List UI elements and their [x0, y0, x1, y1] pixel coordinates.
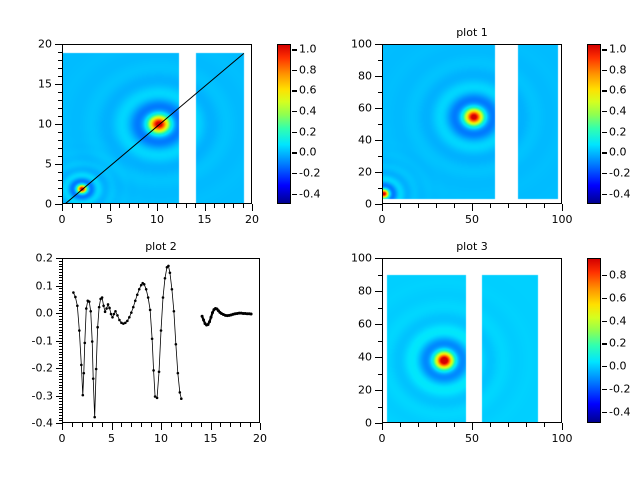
- axis-tick: [378, 156, 382, 157]
- axis-tick-label: 0.2: [36, 252, 54, 265]
- axis-tick: [56, 341, 62, 342]
- axis-tick: [602, 132, 607, 133]
- axis-tick-label: 100: [351, 252, 372, 265]
- axis-tick: [59, 332, 62, 333]
- axis-tick: [157, 204, 158, 211]
- figure-canvas: 05101520051015201.00.80.60.40.20.0-0.2-0…: [0, 0, 640, 480]
- plot-area-bottom-left: [62, 258, 260, 423]
- data-point-marker: [88, 300, 91, 303]
- colorbar-tick-label: 0.8: [609, 63, 627, 76]
- axis-tick: [59, 264, 62, 265]
- axis-tick: [58, 60, 62, 61]
- axis-tick-label: 0.0: [36, 307, 54, 320]
- axis-tick: [454, 423, 455, 427]
- data-point-marker: [114, 310, 117, 313]
- axis-tick-label: 0.1: [36, 279, 54, 292]
- axis-tick: [602, 298, 607, 299]
- axis-tick: [59, 371, 62, 372]
- axis-tick-label: 40: [358, 134, 372, 147]
- colorbar-tick-label: 0.2: [609, 125, 627, 138]
- data-point-marker: [92, 377, 95, 380]
- colorbar-tick-label: -0.4: [299, 187, 320, 200]
- data-point-marker: [126, 320, 129, 323]
- axis-tick-label: 10: [38, 118, 52, 131]
- data-point-marker: [136, 293, 139, 296]
- data-point-marker: [202, 319, 205, 322]
- axis-tick: [55, 124, 62, 125]
- axis-tick: [375, 140, 382, 141]
- axis-tick: [59, 346, 62, 347]
- axis-tick: [59, 299, 62, 300]
- axis-tick: [131, 423, 132, 427]
- data-point-marker: [134, 300, 137, 303]
- data-point-marker: [101, 296, 104, 299]
- axis-tick: [375, 291, 382, 292]
- axis-tick: [508, 204, 509, 208]
- data-point-marker: [138, 288, 141, 291]
- data-point-marker: [143, 283, 146, 286]
- data-point-marker: [107, 303, 110, 306]
- data-point-marker: [110, 313, 113, 316]
- colorbar-tick-label: -0.2: [609, 167, 630, 180]
- axis-tick: [59, 387, 62, 388]
- axis-tick: [59, 291, 62, 292]
- data-point-marker: [132, 306, 135, 309]
- axis-tick: [129, 204, 130, 208]
- colorbar-top-left: [277, 44, 291, 204]
- axis-tick: [59, 324, 62, 325]
- subplot-top-left: 05101520051015201.00.80.60.40.20.0-0.2-0…: [0, 0, 320, 240]
- axis-tick: [602, 389, 607, 390]
- axis-tick: [292, 132, 297, 133]
- axis-tick: [224, 204, 225, 208]
- colorbar-tick-label: 0.6: [299, 84, 317, 97]
- axis-tick: [382, 204, 383, 211]
- axis-tick: [59, 305, 62, 306]
- axis-tick: [418, 423, 419, 427]
- axis-tick: [72, 423, 73, 427]
- axis-tick-label: 10: [150, 213, 164, 226]
- axis-tick: [375, 390, 382, 391]
- axis-tick: [58, 100, 62, 101]
- data-point-marker: [160, 329, 163, 332]
- axis-tick: [602, 173, 607, 174]
- axis-tick-label: 5: [108, 432, 115, 445]
- axis-tick: [121, 423, 122, 427]
- data-point-marker: [158, 370, 161, 373]
- axis-tick: [59, 352, 62, 353]
- axis-tick: [378, 92, 382, 93]
- axis-tick: [59, 385, 62, 386]
- axis-tick-label: 50: [465, 213, 479, 226]
- data-point-marker: [85, 307, 88, 310]
- axis-tick: [562, 204, 563, 211]
- axis-tick: [59, 327, 62, 328]
- axis-tick: [58, 68, 62, 69]
- data-point-marker: [145, 288, 148, 291]
- axis-tick: [59, 418, 62, 419]
- axis-tick: [602, 275, 607, 276]
- axis-tick: [58, 156, 62, 157]
- axis-tick: [59, 269, 62, 270]
- colorbar-tick-label: 0.8: [299, 63, 317, 76]
- line-series-group: [63, 259, 260, 423]
- data-point-marker: [108, 307, 111, 310]
- colorbar-tick-label: 0.2: [609, 337, 627, 350]
- axis-tick: [59, 379, 62, 380]
- axis-tick: [220, 423, 221, 427]
- axis-tick: [378, 124, 382, 125]
- axis-tick: [230, 423, 231, 427]
- axis-tick: [292, 152, 297, 153]
- axis-tick: [59, 376, 62, 377]
- data-point-marker: [76, 304, 79, 307]
- data-point-marker: [124, 322, 127, 325]
- axis-tick: [436, 204, 437, 208]
- axis-tick: [378, 275, 382, 276]
- axis-tick: [250, 423, 251, 427]
- data-point-marker: [210, 316, 213, 319]
- axis-tick: [171, 423, 172, 427]
- axis-tick: [56, 423, 62, 424]
- data-point-marker: [211, 311, 214, 314]
- axis-tick: [59, 261, 62, 262]
- plot-area-top-left: [62, 44, 252, 204]
- axis-tick: [375, 423, 382, 424]
- axis-tick-label: 5: [106, 213, 113, 226]
- axis-tick: [378, 374, 382, 375]
- axis-tick-label: 80: [358, 285, 372, 298]
- axis-tick: [400, 423, 401, 427]
- axis-tick: [59, 349, 62, 350]
- axis-tick: [243, 204, 244, 208]
- axis-tick-label: 0: [379, 213, 386, 226]
- axis-tick: [167, 204, 168, 208]
- colorbar-tick-label: 1.0: [609, 43, 627, 56]
- axis-tick: [92, 423, 93, 427]
- axis-tick: [59, 319, 62, 320]
- axis-tick: [82, 423, 83, 427]
- axis-tick: [602, 412, 607, 413]
- axis-tick: [59, 280, 62, 281]
- axis-tick: [56, 286, 62, 287]
- axis-tick: [102, 423, 103, 427]
- axis-tick: [59, 266, 62, 267]
- axis-tick: [59, 398, 62, 399]
- axis-tick: [526, 423, 527, 427]
- axis-tick: [375, 108, 382, 109]
- colorbar-bottom-right: [587, 258, 601, 423]
- colorbar-tick-label: 0.4: [609, 314, 627, 327]
- data-point-marker: [130, 311, 133, 314]
- data-point-marker: [96, 326, 99, 329]
- axis-tick: [292, 49, 297, 50]
- axis-tick-label: 100: [552, 432, 573, 445]
- line-path-segment-1: [73, 266, 181, 417]
- data-point-marker: [152, 369, 155, 372]
- axis-tick-label: -0.4: [32, 417, 53, 430]
- axis-tick: [138, 204, 139, 208]
- data-point-marker: [82, 394, 85, 397]
- data-point-marker: [128, 316, 131, 319]
- axis-tick: [186, 204, 187, 208]
- axis-tick: [59, 420, 62, 421]
- axis-tick: [151, 423, 152, 427]
- colorbar-tick-label: 0.4: [299, 105, 317, 118]
- axis-tick: [454, 204, 455, 208]
- plot-area-bottom-right: [382, 258, 562, 423]
- data-point-marker: [74, 296, 77, 299]
- data-point-marker: [91, 340, 94, 343]
- axis-tick: [58, 52, 62, 53]
- axis-tick: [59, 294, 62, 295]
- axis-tick: [602, 70, 607, 71]
- heatmap-image-top-right: [383, 45, 562, 204]
- axis-tick: [59, 302, 62, 303]
- axis-tick-label: -0.3: [32, 389, 53, 402]
- axis-tick: [56, 258, 62, 259]
- axis-tick: [375, 44, 382, 45]
- axis-tick: [382, 423, 383, 430]
- colorbar-top-right: [587, 44, 601, 204]
- axis-tick: [59, 409, 62, 410]
- axis-tick-label: 20: [358, 384, 372, 397]
- data-point-marker: [82, 372, 85, 375]
- data-point-marker: [171, 288, 174, 291]
- axis-tick: [58, 108, 62, 109]
- colorbar-tick-label: 0.8: [609, 269, 627, 282]
- axis-tick-label: 60: [358, 318, 372, 331]
- axis-tick: [375, 357, 382, 358]
- data-point-marker: [177, 372, 180, 375]
- axis-tick: [195, 204, 196, 208]
- axis-tick: [56, 396, 62, 397]
- axis-tick-label: 20: [245, 213, 259, 226]
- axis-tick: [59, 407, 62, 408]
- data-point-marker: [151, 337, 154, 340]
- data-point-marker: [156, 397, 159, 400]
- axis-tick: [214, 204, 215, 208]
- axis-tick-label: 5: [45, 158, 52, 171]
- axis-tick: [59, 338, 62, 339]
- axis-tick: [59, 374, 62, 375]
- axis-tick: [56, 368, 62, 369]
- axis-tick: [62, 423, 63, 430]
- axis-tick-label: 15: [198, 213, 212, 226]
- axis-tick: [72, 204, 73, 208]
- colorbar-gradient: [588, 259, 600, 422]
- axis-tick: [119, 204, 120, 208]
- axis-tick: [59, 412, 62, 413]
- axis-tick: [59, 288, 62, 289]
- axis-tick: [191, 423, 192, 427]
- data-point-marker: [118, 319, 121, 322]
- axis-tick: [59, 404, 62, 405]
- axis-tick: [59, 316, 62, 317]
- plot-area-top-right: [382, 44, 562, 204]
- axis-tick: [148, 204, 149, 208]
- data-point-marker: [250, 313, 253, 316]
- axis-tick: [59, 415, 62, 416]
- axis-tick: [58, 172, 62, 173]
- axis-tick: [375, 204, 382, 205]
- axis-tick: [59, 393, 62, 394]
- axis-tick: [602, 343, 607, 344]
- data-point-marker: [149, 309, 152, 312]
- axis-tick-label: 20: [38, 38, 52, 51]
- axis-tick: [418, 204, 419, 208]
- axis-tick: [58, 196, 62, 197]
- axis-tick: [59, 357, 62, 358]
- axis-tick: [233, 204, 234, 208]
- axis-tick-label: 60: [358, 102, 372, 115]
- axis-tick-label: 100: [351, 38, 372, 51]
- data-point-marker: [104, 311, 107, 314]
- colorbar-tick-label: 1.0: [299, 43, 317, 56]
- data-point-marker: [207, 323, 210, 326]
- axis-tick: [91, 204, 92, 208]
- data-point-marker: [169, 271, 172, 274]
- axis-tick: [292, 70, 297, 71]
- axis-tick: [59, 277, 62, 278]
- axis-tick: [292, 173, 297, 174]
- data-point-marker: [116, 314, 119, 317]
- axis-tick-label: 0: [379, 432, 386, 445]
- axis-tick-label: 15: [204, 432, 218, 445]
- axis-tick-label: 0: [59, 213, 66, 226]
- axis-tick-label: -0.2: [32, 362, 53, 375]
- axis-tick: [508, 423, 509, 427]
- axis-tick: [58, 76, 62, 77]
- axis-tick: [375, 76, 382, 77]
- axis-tick: [544, 204, 545, 208]
- axis-tick: [100, 204, 101, 208]
- axis-tick: [58, 180, 62, 181]
- axis-tick: [55, 44, 62, 45]
- axis-tick: [201, 423, 202, 427]
- axis-tick: [59, 308, 62, 309]
- axis-tick-label: 50: [465, 432, 479, 445]
- axis-tick: [58, 188, 62, 189]
- axis-tick: [490, 423, 491, 427]
- axis-tick: [375, 172, 382, 173]
- axis-tick: [58, 140, 62, 141]
- colorbar-tick-label: 0.2: [299, 125, 317, 138]
- axis-tick: [602, 49, 607, 50]
- colorbar-tick-label: 0.4: [609, 105, 627, 118]
- axis-tick: [292, 90, 297, 91]
- data-point-marker: [179, 391, 182, 394]
- data-point-marker: [105, 307, 108, 310]
- axis-tick: [141, 423, 142, 427]
- colorbar-tick-label: -0.4: [609, 187, 630, 200]
- colorbar-tick-label: 0.0: [299, 146, 317, 159]
- axis-tick: [59, 275, 62, 276]
- axis-tick: [211, 423, 212, 430]
- axis-tick-label: 20: [253, 432, 267, 445]
- axis-tick: [59, 365, 62, 366]
- colorbar-tick-label: 0.0: [609, 360, 627, 373]
- data-point-marker: [78, 329, 81, 332]
- data-point-marker: [180, 397, 183, 400]
- axis-tick: [472, 204, 473, 211]
- axis-tick-label: 20: [358, 166, 372, 179]
- colorbar-tick-label: 0.6: [609, 291, 627, 304]
- colorbar-tick-label: 0.0: [609, 146, 627, 159]
- axis-tick: [59, 283, 62, 284]
- axis-tick: [176, 204, 177, 208]
- axis-tick-label: 0: [365, 417, 372, 430]
- axis-tick: [378, 188, 382, 189]
- axis-tick-label: 10: [154, 432, 168, 445]
- axis-tick: [161, 423, 162, 430]
- axis-tick: [472, 423, 473, 430]
- data-point-marker: [89, 310, 92, 313]
- axis-tick: [58, 92, 62, 93]
- axis-tick: [112, 423, 113, 430]
- axis-tick: [602, 111, 607, 112]
- subplot-bottom-right: plot 3 0501000204060801000.80.60.40.20.0…: [320, 240, 640, 480]
- data-point-marker: [80, 364, 83, 367]
- data-point-marker: [72, 291, 75, 294]
- data-point-marker: [93, 416, 96, 419]
- axis-tick: [375, 324, 382, 325]
- axis-tick: [252, 204, 253, 211]
- data-point-marker: [147, 296, 150, 299]
- axis-tick: [562, 423, 563, 430]
- axis-tick: [526, 204, 527, 208]
- axis-tick: [602, 90, 607, 91]
- axis-tick: [55, 164, 62, 165]
- colorbar-tick-label: -0.2: [299, 167, 320, 180]
- axis-tick: [59, 354, 62, 355]
- subplot-top-right: plot 1 0501000204060801001.00.80.60.40.2…: [320, 0, 640, 240]
- axis-tick: [59, 382, 62, 383]
- axis-tick: [59, 272, 62, 273]
- axis-tick-label: 0: [59, 432, 66, 445]
- axis-tick: [56, 313, 62, 314]
- data-point-marker: [175, 343, 178, 346]
- axis-tick: [58, 132, 62, 133]
- axis-tick: [602, 366, 607, 367]
- axis-tick: [260, 423, 261, 430]
- colorbar-tick-label: -0.4: [609, 405, 630, 418]
- axis-tick: [378, 60, 382, 61]
- axis-tick: [59, 297, 62, 298]
- colorbar-gradient: [278, 45, 290, 203]
- axis-tick: [59, 321, 62, 322]
- axis-tick: [602, 194, 607, 195]
- colorbar-gradient: [588, 45, 600, 203]
- axis-tick-label: 100: [552, 213, 573, 226]
- heatmap-image-bottom-right: [383, 259, 562, 423]
- data-point-marker: [167, 265, 170, 268]
- colorbar-tick-label: 0.6: [609, 84, 627, 97]
- axis-tick: [436, 423, 437, 427]
- data-point-marker: [98, 306, 101, 309]
- axis-tick: [59, 330, 62, 331]
- axis-tick: [205, 204, 206, 211]
- axis-tick: [59, 363, 62, 364]
- colorbar-tick-label: -0.2: [609, 382, 630, 395]
- axis-tick: [81, 204, 82, 208]
- axis-tick: [62, 204, 63, 211]
- axis-tick-label: 80: [358, 70, 372, 83]
- axis-tick: [55, 204, 62, 205]
- axis-tick: [59, 401, 62, 402]
- data-point-marker: [83, 342, 86, 345]
- axis-tick: [110, 204, 111, 211]
